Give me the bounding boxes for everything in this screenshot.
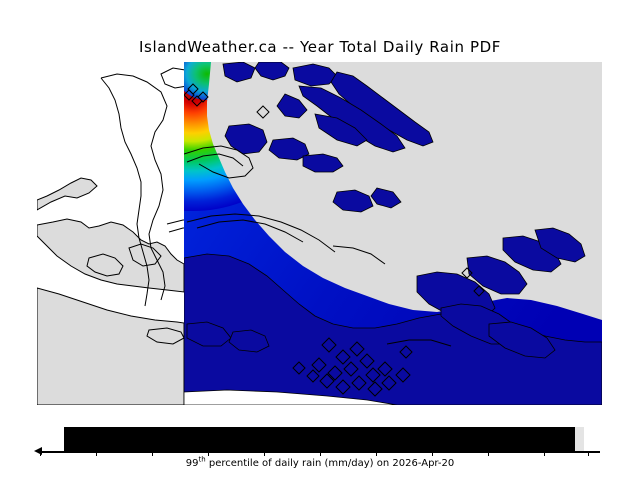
page-title: IslandWeather.ca -- Year Total Daily Rai…: [0, 38, 640, 56]
colorbar[interactable]: [64, 427, 579, 452]
colorbar-fill: [64, 427, 579, 452]
map-panel[interactable]: [37, 62, 602, 405]
map-canvas[interactable]: [37, 62, 602, 405]
caption-percentile: 99: [186, 458, 199, 469]
colorbar-tick-marks: [40, 453, 600, 457]
caption-date: 2026-Apr-20: [392, 458, 454, 469]
colorbar-caption: 99th percentile of daily rain (mm/day) o…: [0, 458, 640, 469]
colorbar-overflow-swatch: [575, 427, 584, 452]
caption-text: percentile of daily rain (mm/day) on: [206, 458, 393, 469]
caption-ordinal-suffix: th: [198, 456, 205, 464]
